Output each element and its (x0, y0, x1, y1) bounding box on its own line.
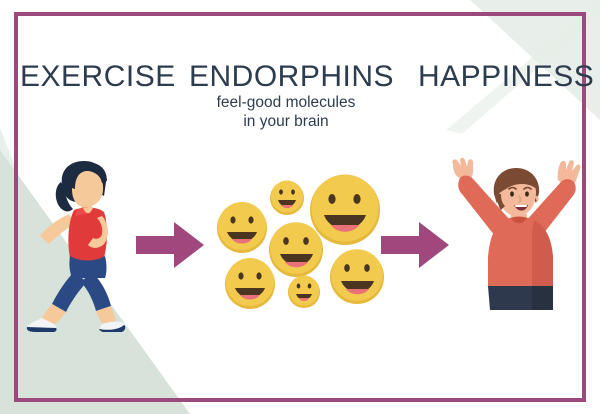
heading-endorphins: ENDORPHINS (189, 60, 394, 94)
man-teeth (515, 205, 527, 207)
endorphin-smiley-cluster (214, 165, 378, 310)
endorphins-subtitle: feel-good molecules in your brain (188, 93, 384, 131)
man-sweater-shadow (532, 220, 553, 286)
subtitle-line-1: feel-good molecules (217, 94, 356, 111)
smiley-right-lower (330, 249, 384, 304)
man-pants-shadow (532, 286, 553, 310)
heading-happiness: HAPPINESS (418, 60, 594, 94)
subtitle-line-2: in your brain (243, 113, 328, 130)
man-right-eye (525, 191, 529, 196)
woman-tank-top (68, 208, 107, 263)
woman-back-leg-thigh (52, 272, 87, 312)
smiley-bottom-left (225, 258, 275, 309)
arrow-exercise-to-endorphins (136, 222, 204, 268)
arrow-endorphins-to-happiness (381, 222, 449, 268)
heading-exercise: EXERCISE (20, 60, 176, 94)
smiley-left-upper (217, 202, 267, 253)
smiley-center (269, 222, 323, 277)
walking-woman-illustration (16, 158, 136, 333)
cheering-man-illustration (448, 158, 584, 310)
smiley-large-right (310, 175, 380, 246)
man-left-eye (510, 191, 514, 196)
right-arrow-icon (381, 222, 449, 268)
right-arrow-icon (136, 222, 204, 268)
smiley-bottom-mid (288, 276, 320, 309)
infographic-poster: EXERCISE ENDORPHINS HAPPINESS feel-good … (0, 0, 600, 414)
smiley-top-small (270, 181, 304, 216)
